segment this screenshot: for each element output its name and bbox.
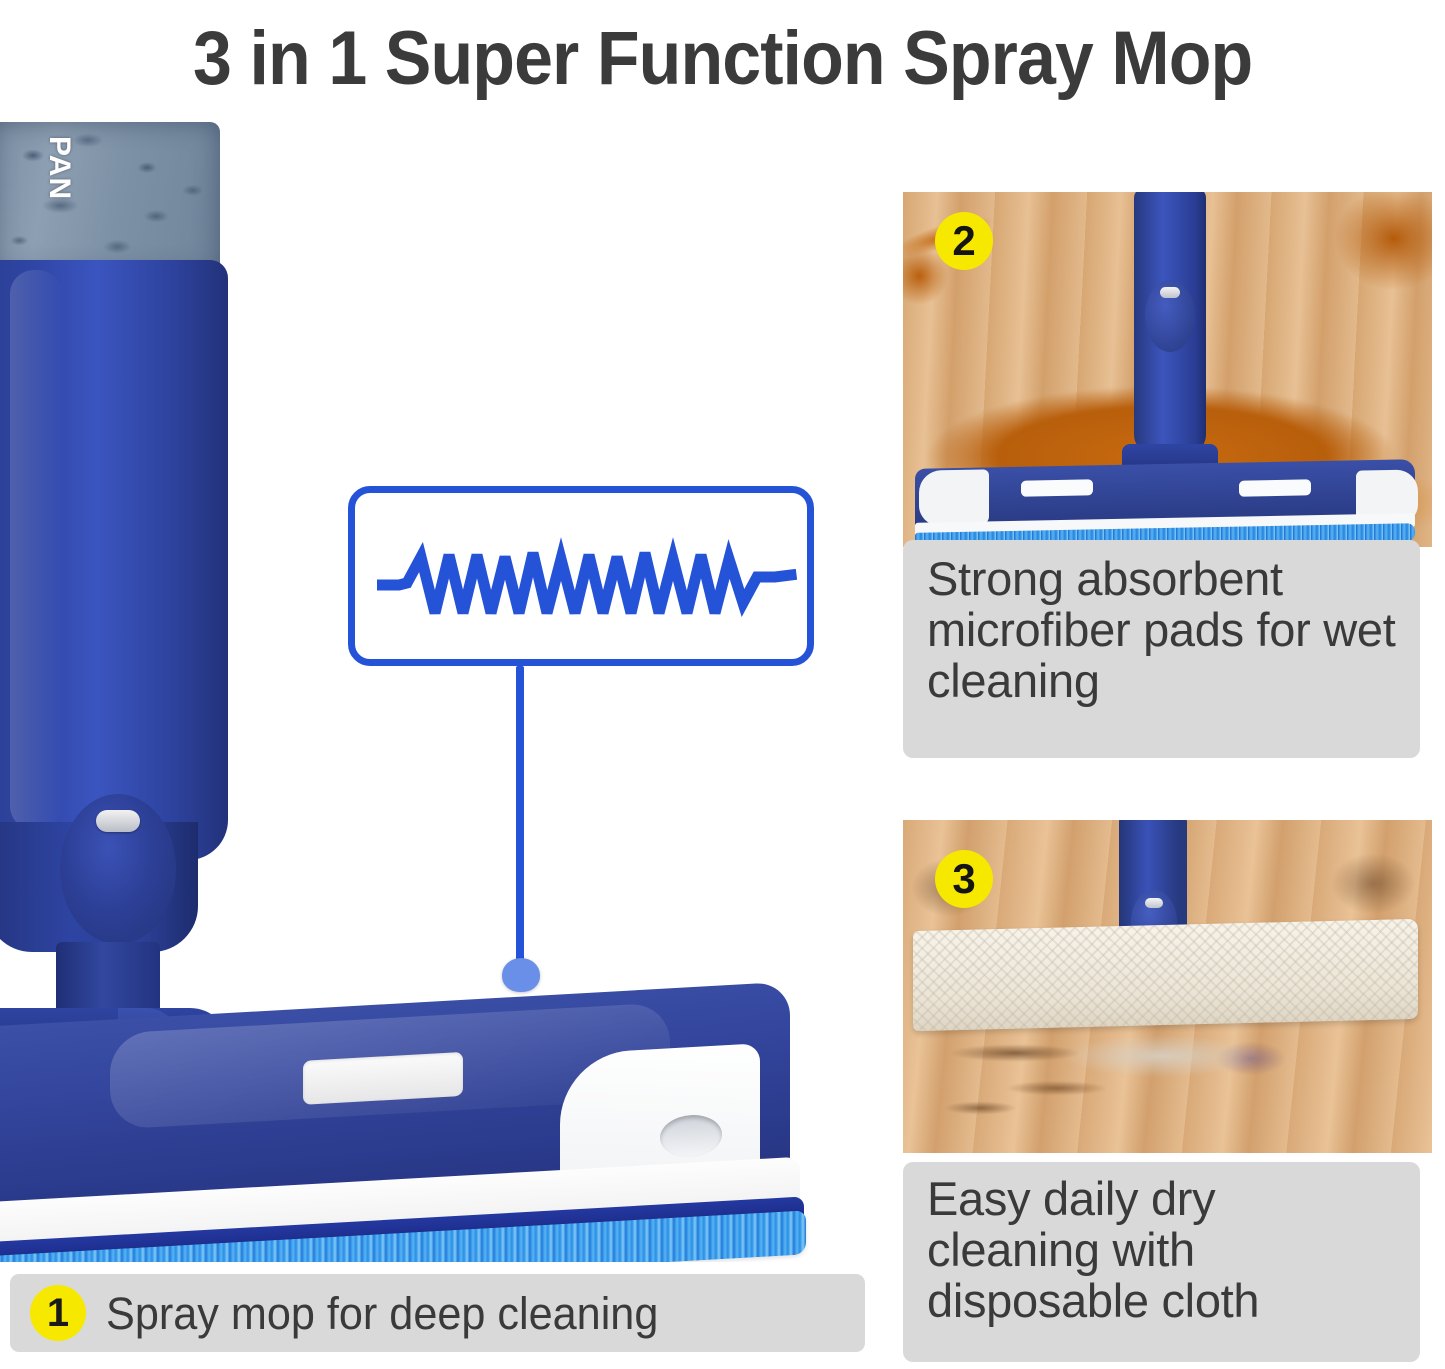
- page-title: 3 in 1 Super Function Spray Mop: [193, 21, 1252, 97]
- spray-nozzle-icon: [96, 810, 140, 832]
- feature-badge-1: 1: [30, 1285, 86, 1341]
- hair-on-floor: [923, 1020, 1153, 1130]
- callout-connector-line: [516, 666, 524, 978]
- page-title-bar: 3 in 1 Super Function Spray Mop: [0, 0, 1445, 118]
- brand-label: PAN: [42, 136, 76, 200]
- disposable-cloth-texture: [913, 919, 1418, 1031]
- feature-caption-3-text: Easy daily dry cleaning with disposable …: [927, 1174, 1396, 1326]
- zigzag-spray-icon: [377, 533, 797, 633]
- feature-caption-1: 1 Spray mop for deep cleaning: [10, 1274, 865, 1352]
- mop-handle-shaft: [0, 260, 228, 860]
- water-tank: PAN: [0, 122, 220, 274]
- velcro-strip-right-photo2: [1239, 479, 1311, 496]
- velcro-strip-left-photo2: [1021, 479, 1093, 496]
- velcro-strip: [303, 1052, 463, 1105]
- disposable-cloth: [913, 919, 1418, 1031]
- mop-head-white-left-photo2: [919, 469, 989, 525]
- spray-nozzle-icon-photo2: [1160, 287, 1180, 298]
- feature-badge-3: 3: [935, 850, 993, 908]
- feature-caption-2-text: Strong absorbent microfiber pads for wet…: [927, 554, 1396, 706]
- feature-caption-3: Easy daily dry cleaning with disposable …: [903, 1162, 1420, 1362]
- spray-nozzle-icon-photo3: [1145, 898, 1163, 908]
- callout-anchor-dot: [502, 958, 540, 992]
- product-hero-image: PAN: [0, 122, 880, 1262]
- hair-clump-top-right: [1308, 836, 1432, 931]
- feature-caption-2: Strong absorbent microfiber pads for wet…: [903, 540, 1420, 758]
- spill-splash-top: [903, 192, 1095, 334]
- feature-callout-box: [348, 486, 814, 666]
- feature-badge-2: 2: [935, 212, 993, 270]
- spill-splash-right: [1292, 192, 1432, 336]
- feature-caption-1-text: Spray mop for deep cleaning: [106, 1291, 658, 1336]
